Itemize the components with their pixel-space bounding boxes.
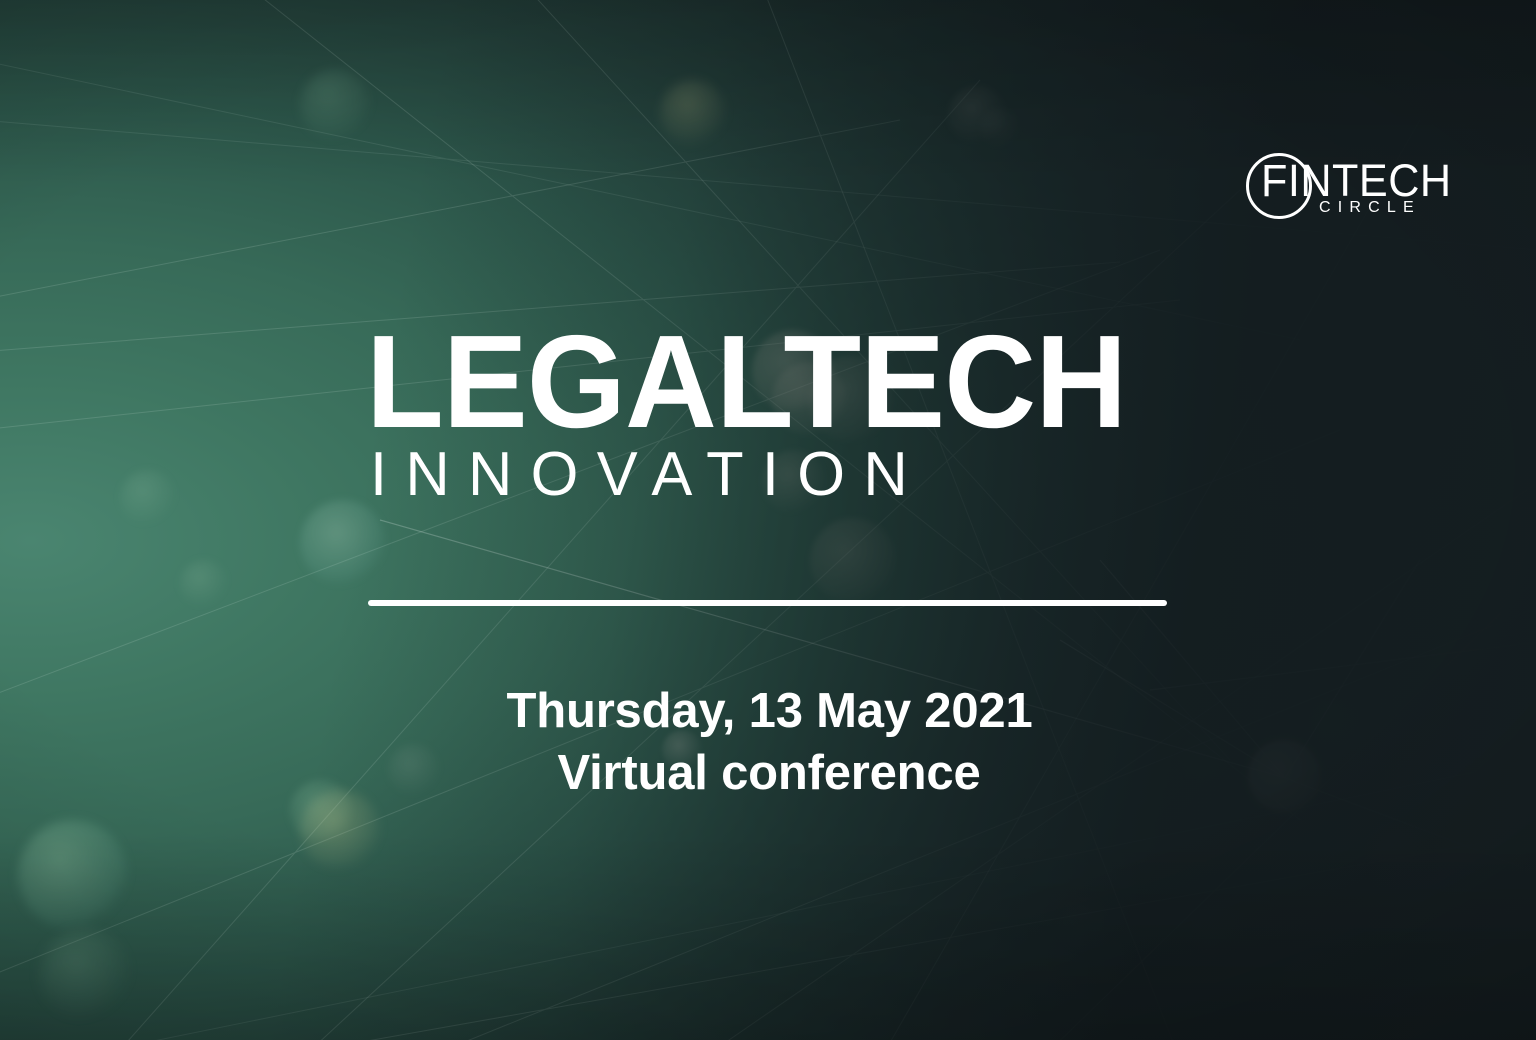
page-title: LEGALTECH <box>366 316 1138 448</box>
event-date: Thursday, 13 May 2021 <box>3 680 1536 742</box>
fintech-circle-logo[interactable]: FINTECH CIRCLE <box>1240 144 1440 230</box>
event-format: Virtual conference <box>2 742 1536 804</box>
event-title-slide: FINTECH CIRCLE LEGALTECH INNOVATION Thur… <box>0 0 1536 1040</box>
page-subtitle: INNOVATION <box>370 444 1162 506</box>
event-info: Thursday, 13 May 2021 Virtual conference <box>0 680 1536 804</box>
logo-wordmark: FINTECH <box>1261 158 1452 203</box>
logo-subword: CIRCLE <box>1319 200 1421 216</box>
divider <box>368 600 1167 606</box>
